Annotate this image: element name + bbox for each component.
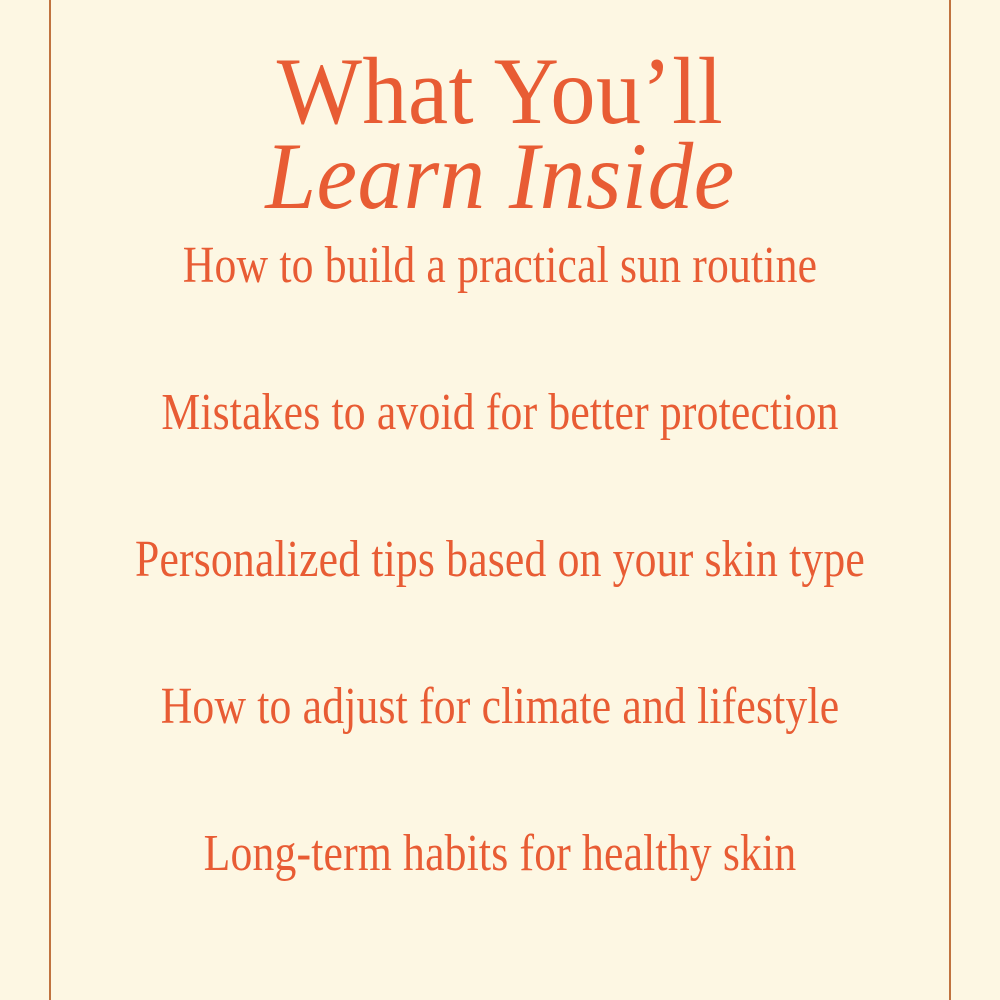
list-item: Long-term habits for healthy skin	[123, 828, 877, 880]
list-item: Personalized tips based on your skin typ…	[123, 534, 877, 681]
content-column: What You’ll Learn Inside How to build a …	[51, 0, 949, 1000]
list-item: Mistakes to avoid for better protection	[123, 387, 877, 534]
poster-canvas: What You’ll Learn Inside How to build a …	[0, 0, 1000, 1000]
page-title: What You’ll Learn Inside	[51, 47, 949, 220]
page-title-line-2: Learn Inside	[69, 132, 931, 220]
benefit-list: How to build a practical sun routine Mis…	[51, 240, 949, 880]
list-item: How to adjust for climate and lifestyle	[123, 681, 877, 828]
list-item: How to build a practical sun routine	[123, 240, 877, 387]
right-vertical-rule	[949, 0, 951, 1000]
